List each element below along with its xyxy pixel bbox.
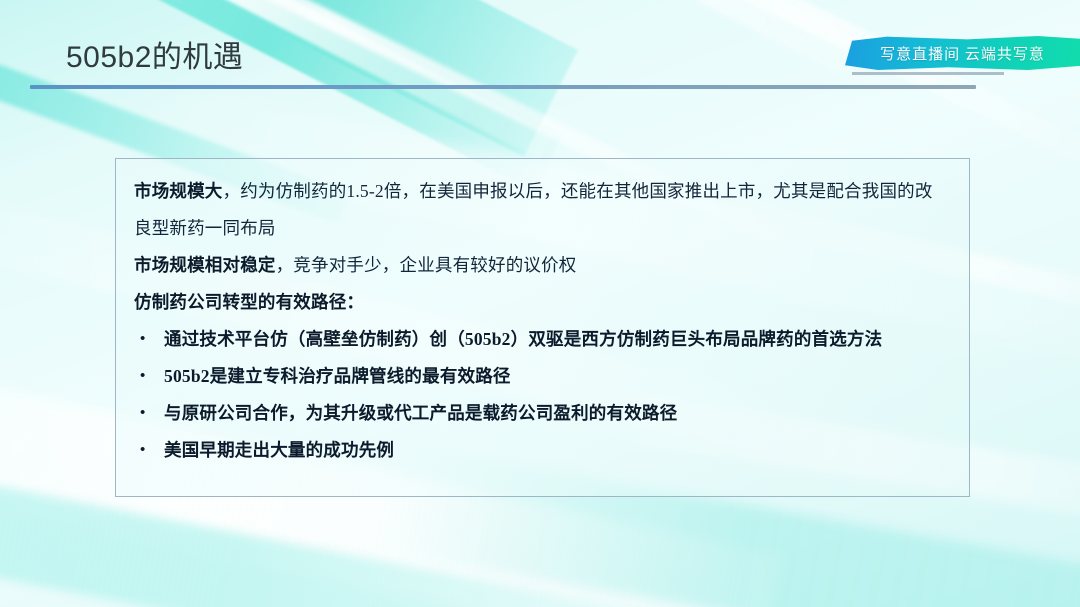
brand-label: 写意直播间 云端共写意 — [880, 43, 1045, 64]
list-item: 通过技术平台仿（高壁垒仿制药）创（505b2）双驱是西方仿制药巨头布局品牌药的首… — [134, 321, 949, 358]
paragraph-lead: 市场规模相对稳定 — [134, 255, 276, 275]
title-divider — [30, 85, 976, 89]
list-item: 505b2是建立专科治疗品牌管线的最有效路径 — [134, 358, 949, 395]
list-item: 美国早期走出大量的成功先例 — [134, 432, 949, 469]
list-item: 与原研公司合作，为其升级或代工产品是载药公司盈利的有效路径 — [134, 395, 949, 432]
content-panel: 市场规模大，约为仿制药的1.5-2倍，在美国申报以后，还能在其他国家推出上市，尤… — [115, 158, 970, 497]
bullets-heading: 仿制药公司转型的有效路径： — [134, 284, 949, 321]
brand-underline — [852, 72, 1004, 75]
paragraph-market-size: 市场规模大，约为仿制药的1.5-2倍，在美国申报以后，还能在其他国家推出上市，尤… — [134, 173, 949, 247]
brand-banner: 写意直播间 云端共写意 — [845, 36, 1080, 70]
paragraph-market-stability: 市场规模相对稳定，竞争对手少，企业具有较好的议价权 — [134, 247, 949, 284]
paragraph-lead: 市场规模大 — [134, 181, 223, 201]
bullet-list: 通过技术平台仿（高壁垒仿制药）创（505b2）双驱是西方仿制药巨头布局品牌药的首… — [134, 321, 949, 469]
slide-canvas: 505b2的机遇 写意直播间 云端共写意 市场规模大，约为仿制药的1.5-2倍，… — [0, 0, 1080, 607]
paragraph-body: ，竞争对手少，企业具有较好的议价权 — [276, 255, 577, 275]
paragraph-body: ，约为仿制药的1.5-2倍，在美国申报以后，还能在其他国家推出上市，尤其是配合我… — [134, 181, 933, 238]
page-title: 505b2的机遇 — [66, 32, 243, 76]
